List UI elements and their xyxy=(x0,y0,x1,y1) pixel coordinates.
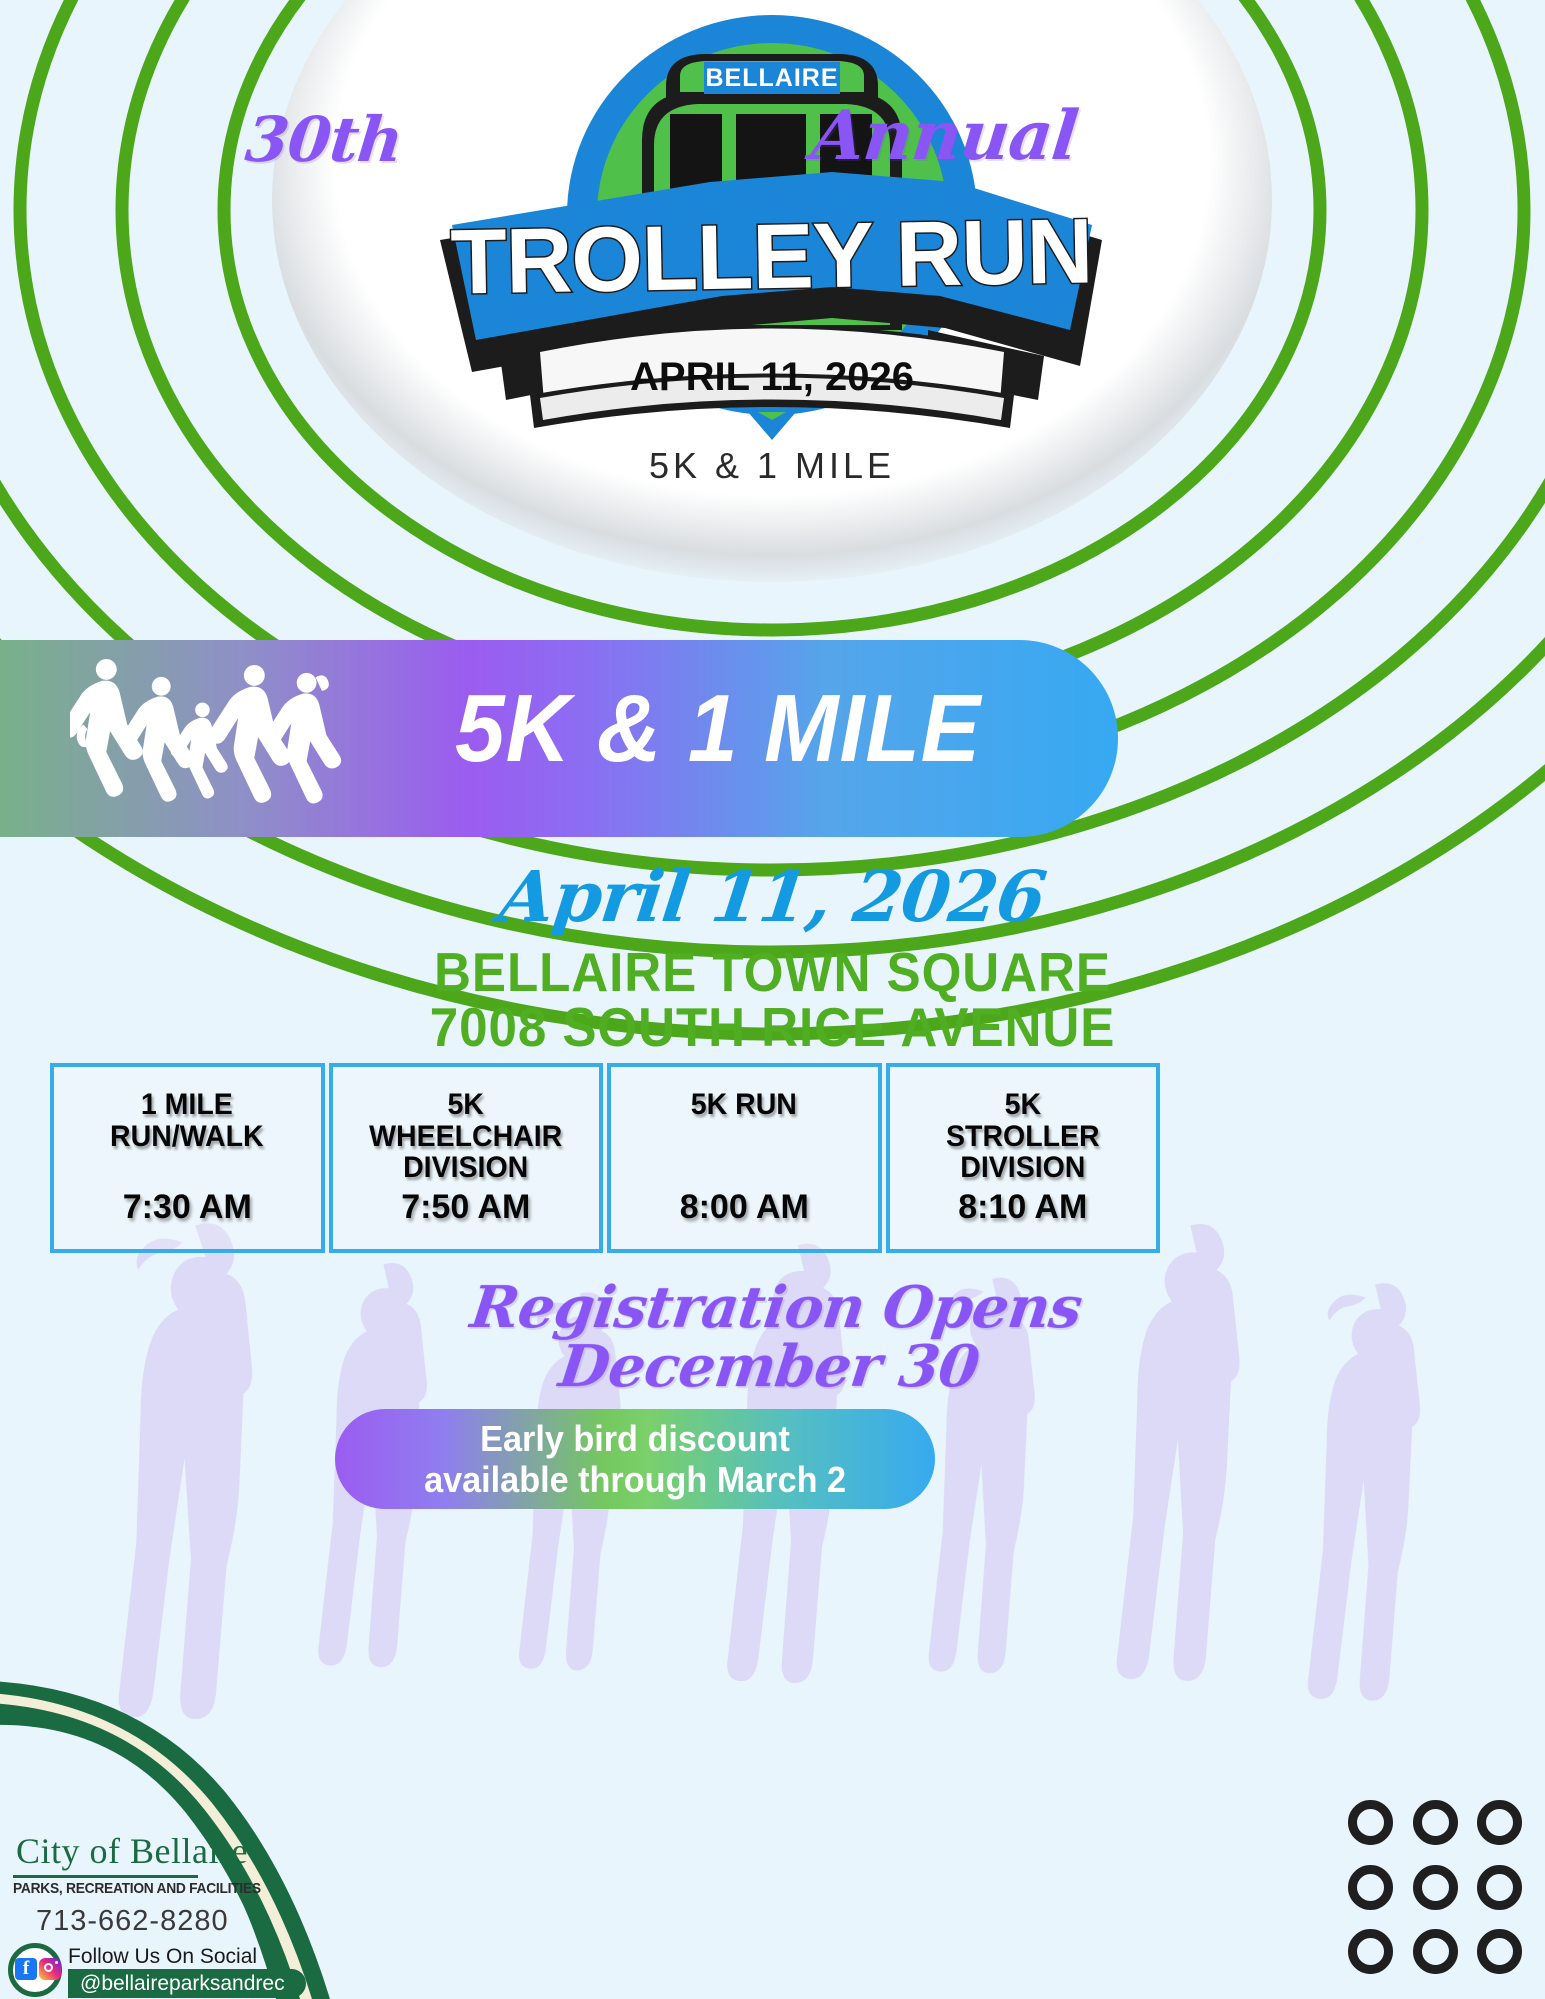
ring-dot xyxy=(1477,1929,1522,1974)
logo-wordmark: TROLLEY RUN xyxy=(450,200,1093,313)
early-bird-text: Early bird discount available through Ma… xyxy=(424,1418,846,1501)
instagram-icon[interactable] xyxy=(39,1958,61,1980)
ring-dot xyxy=(1348,1865,1393,1910)
race-schedule-row: 1 MILE RUN/WALK 7:30 AM 5K WHEELCHAIR DI… xyxy=(50,1063,1160,1253)
ring-grid-decoration xyxy=(1348,1800,1528,1980)
ring-dot xyxy=(1413,1800,1458,1845)
venue-address: 7008 SOUTH RICE AVENUE xyxy=(54,995,1491,1059)
race-box: 5K RUN 8:00 AM xyxy=(607,1063,882,1253)
ring-dot xyxy=(1477,1800,1522,1845)
race-name: 1 MILE RUN/WALK xyxy=(110,1089,264,1152)
race-name: 5K RUN xyxy=(691,1089,797,1121)
race-time: 8:10 AM xyxy=(958,1188,1087,1227)
distance-banner: 5K & 1 MILE xyxy=(0,640,1118,837)
city-of-bellaire-block: City of Bellaire PARKS, RECREATION AND F… xyxy=(0,1663,330,1999)
race-name: 5K WHEELCHAIR DIVISION xyxy=(369,1089,562,1184)
early-bird-banner: Early bird discount available through Ma… xyxy=(335,1409,935,1509)
ring-dot xyxy=(1348,1929,1393,1974)
annual-label: Annual xyxy=(808,96,1081,176)
race-time: 7:30 AM xyxy=(123,1188,252,1227)
race-time: 8:00 AM xyxy=(680,1188,809,1227)
city-department: PARKS, RECREATION AND FACILITIES xyxy=(13,1880,261,1897)
logo-date-plate: APRIL 11, 2026 xyxy=(630,355,914,399)
race-time: 7:50 AM xyxy=(401,1188,530,1227)
ring-dot xyxy=(1348,1800,1393,1845)
logo-destination-sign: BELLAIRE xyxy=(706,64,839,92)
social-handle-bar: @bellaireparksandrec xyxy=(68,1969,306,1998)
ring-dot xyxy=(1413,1929,1458,1974)
flyer-poster: BELLAIRE TROLLEY RUN APRIL 11, 2026 xyxy=(0,0,1545,1999)
city-name-rule xyxy=(13,1875,198,1878)
facebook-icon[interactable]: f xyxy=(15,1958,37,1980)
banner-title: 5K & 1 MILE xyxy=(455,674,981,784)
race-box: 1 MILE RUN/WALK 7:30 AM xyxy=(50,1063,325,1253)
race-name: 5K STROLLER DIVISION xyxy=(946,1089,1100,1184)
trolley-run-logo: BELLAIRE TROLLEY RUN APRIL 11, 2026 xyxy=(380,0,1160,520)
registration-opens-text: Registration Opens December 30 xyxy=(0,1278,1545,1396)
city-name: City of Bellaire xyxy=(16,1830,248,1872)
event-date: April 11, 2026 xyxy=(0,855,1545,938)
race-box: 5K STROLLER DIVISION 8:10 AM xyxy=(886,1063,1161,1253)
city-phone: 713-662-8280 xyxy=(36,1905,229,1938)
banner-runner-icons xyxy=(70,650,370,830)
ring-dot xyxy=(1413,1865,1458,1910)
social-handle: @bellaireparksandrec xyxy=(80,1972,285,1996)
ring-dot xyxy=(1477,1865,1522,1910)
logo-distances: 5K & 1 MILE xyxy=(649,445,895,486)
social-media-row: f Follow Us On Social Media! @bellairepa… xyxy=(6,1941,306,1999)
ordinal-label: 30th xyxy=(242,103,406,176)
race-box: 5K WHEELCHAIR DIVISION 7:50 AM xyxy=(329,1063,604,1253)
